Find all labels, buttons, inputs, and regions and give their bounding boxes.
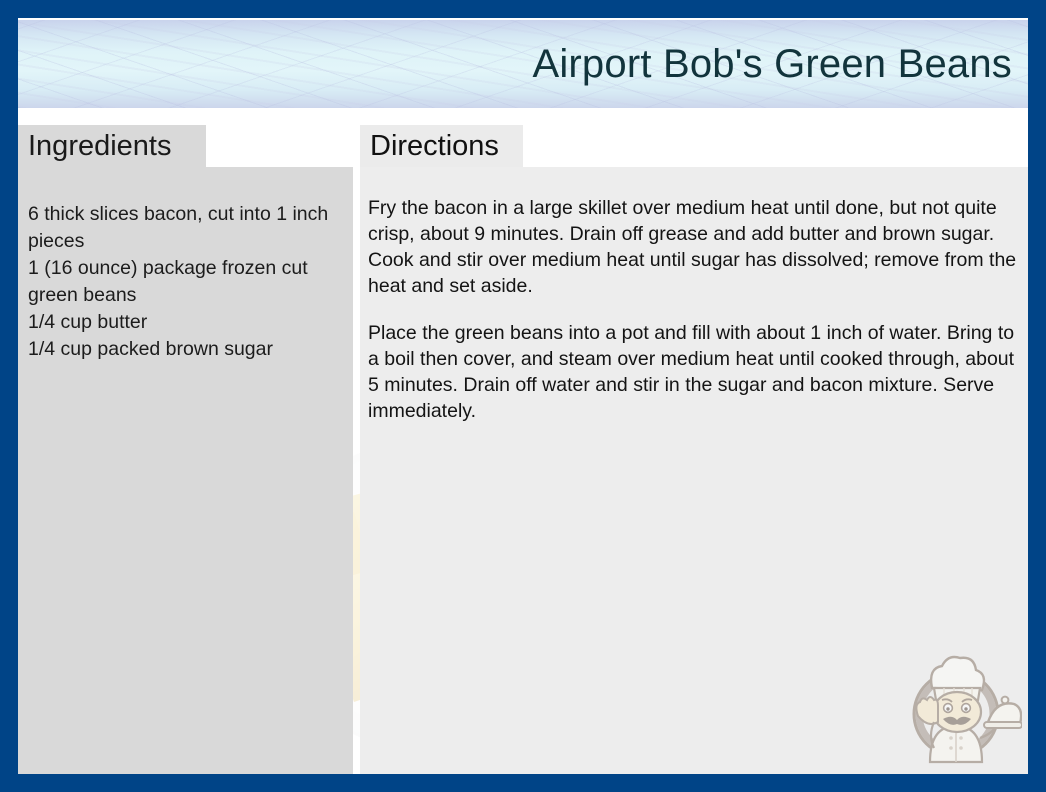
page-title: Airport Bob's Green Beans bbox=[532, 44, 1012, 84]
ingredients-heading: Ingredients bbox=[28, 132, 172, 161]
directions-body: Fry the bacon in a large skillet over me… bbox=[368, 195, 1020, 424]
list-item: 1 (16 ounce) package frozen cut green be… bbox=[28, 255, 341, 309]
directions-tab: Directions bbox=[360, 125, 523, 167]
ingredients-tab: Ingredients bbox=[18, 125, 206, 167]
directions-heading: Directions bbox=[370, 132, 499, 161]
ingredients-list: 6 thick slices bacon, cut into 1 inch pi… bbox=[28, 201, 341, 364]
list-item: 6 thick slices bacon, cut into 1 inch pi… bbox=[28, 201, 341, 255]
recipe-slide: Airport Bob's Green Beans bbox=[0, 0, 1046, 792]
list-item: 1/4 cup butter bbox=[28, 309, 341, 336]
directions-panel: Fry the bacon in a large skillet over me… bbox=[360, 167, 1028, 774]
directions-paragraph: Place the green beans into a pot and fil… bbox=[368, 320, 1020, 425]
directions-paragraph: Fry the bacon in a large skillet over me… bbox=[368, 195, 1020, 300]
ingredients-panel: 6 thick slices bacon, cut into 1 inch pi… bbox=[18, 167, 353, 774]
list-item: 1/4 cup packed brown sugar bbox=[28, 336, 341, 363]
title-banner: Airport Bob's Green Beans bbox=[18, 20, 1028, 108]
